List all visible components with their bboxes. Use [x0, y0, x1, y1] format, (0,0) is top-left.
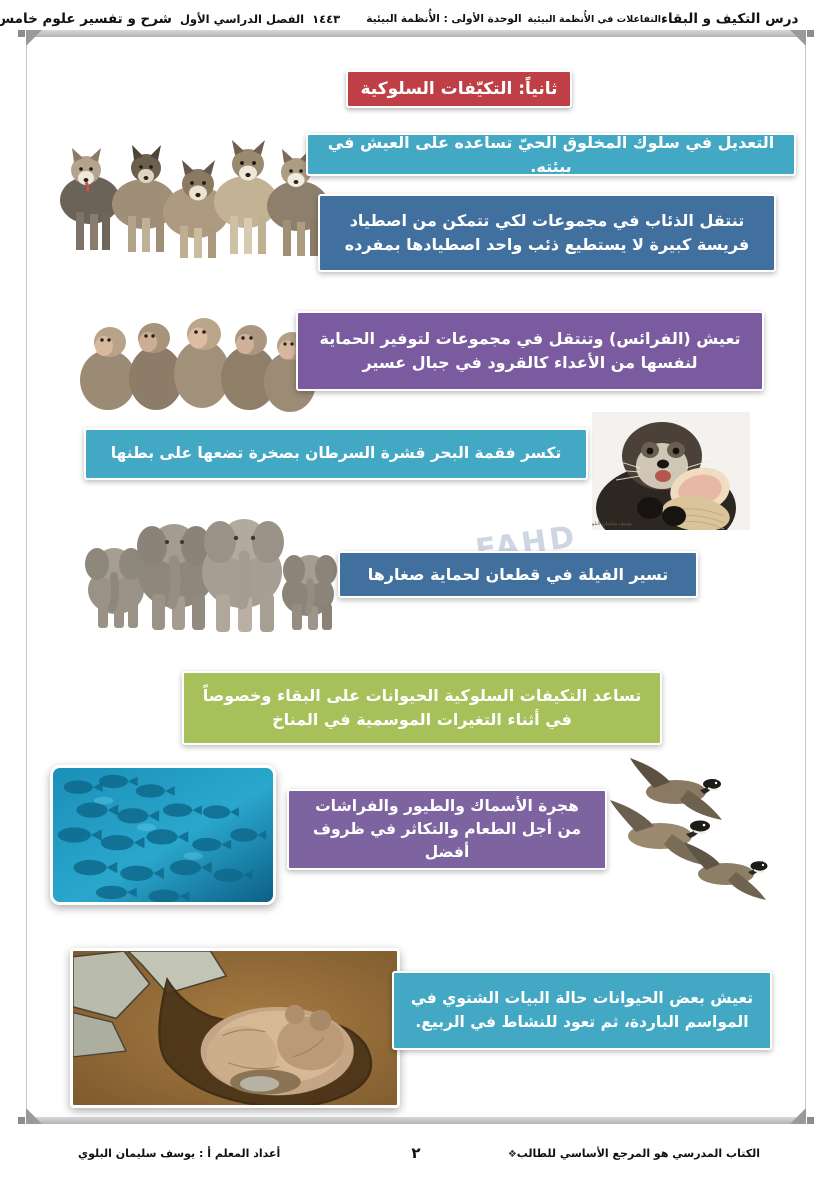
page-header: درس التكيف و البقاء التفاعلات في الأُنظم…	[0, 6, 832, 32]
footer-note: الكتاب المدرسي هو المرجع الأساسي للطالب❖	[508, 1147, 760, 1160]
caption-box-definition: التعديل في سلوك المخلوق الحيّ تساعده على…	[306, 133, 796, 176]
migrating-geese-photo	[608, 748, 798, 900]
svg-text:يوسف سليمان البلوي: يوسف سليمان البلوي	[592, 521, 633, 527]
caption-text: تكسر فقمة البحر قشرة السرطان بصخرة تضعها…	[111, 442, 562, 465]
frame-tick-bottom-left	[18, 1117, 25, 1124]
caption-text: تعيش بعض الحيوانات حالة البيات الشتوي في…	[408, 987, 756, 1034]
page-footer: أعداد المعلم أ : يوسف سليمان البلوي ٢ ال…	[0, 1140, 832, 1166]
wolf-pack-photo	[46, 108, 338, 270]
elephant-herd-photo	[64, 508, 356, 640]
caption-text: تعيش (الفرائس) وتنتقل في مجموعات لتوفير …	[312, 327, 748, 375]
caption-text: تسير الفيلة في قطعان لحماية صغارها	[368, 563, 669, 587]
section-title-banner: ثانياً: التكيّفات السلوكية	[346, 70, 572, 108]
page-frame-bottom-bar	[26, 1117, 806, 1124]
caption-box-monkeys: تعيش (الفرائس) وتنتقل في مجموعات لتوفير …	[296, 311, 764, 391]
fish-school-photo	[50, 765, 276, 905]
sea-otter-with-clam-photo: يوسف سليمان البلوي	[592, 412, 750, 530]
header-lesson: درس التكيف و البقاء	[661, 11, 798, 27]
star-icon: ❖	[508, 1149, 517, 1160]
caption-text: التعديل في سلوك المخلوق الحيّ تساعده على…	[322, 131, 780, 179]
header-title: شرح و تفسير علوم خامس	[0, 11, 172, 27]
header-term: الفصل الدراسي الأول	[180, 12, 304, 26]
caption-box-wolves: تنتقل الذئاب في مجموعات لكي تتمكن من اصط…	[318, 194, 776, 272]
caption-text: تنتقل الذئاب في مجموعات لكي تتمكن من اصط…	[334, 209, 760, 257]
caption-box-hibernation: تعيش بعض الحيوانات حالة البيات الشتوي في…	[392, 971, 772, 1050]
caption-text: هجرة الأسماك والطيور والفراشات من أجل ال…	[303, 795, 591, 865]
header-year: ١٤٤٣	[312, 12, 340, 26]
baboon-troop-photo	[74, 300, 318, 412]
footer-prepared-by: أعداد المعلم أ : يوسف سليمان البلوي	[78, 1147, 280, 1160]
caption-box-seasonal-adaptation: تساعد التكيفات السلوكية الحيوانات على ال…	[182, 671, 662, 745]
footer-page-number: ٢	[411, 1144, 420, 1162]
caption-box-elephants: تسير الفيلة في قطعان لحماية صغارها	[338, 551, 698, 598]
header-subtitle: التفاعلات في الأُنظمة البيئية	[528, 14, 662, 25]
section-title-text: ثانياً: التكيّفات السلوكية	[360, 79, 557, 99]
footer-note-text: الكتاب المدرسي هو المرجع الأساسي للطالب	[517, 1147, 760, 1160]
hibernating-bear-den-illustration	[70, 948, 400, 1108]
header-unit: الوحدة الأولى : الأُنظمة البيئية	[366, 13, 521, 25]
caption-text: تساعد التكيفات السلوكية الحيوانات على ال…	[198, 684, 646, 732]
caption-box-migration: هجرة الأسماك والطيور والفراشات من أجل ال…	[287, 789, 607, 870]
caption-box-otter: تكسر فقمة البحر قشرة السرطان بصخرة تضعها…	[84, 428, 588, 480]
frame-tick-bottom-right	[807, 1117, 814, 1124]
